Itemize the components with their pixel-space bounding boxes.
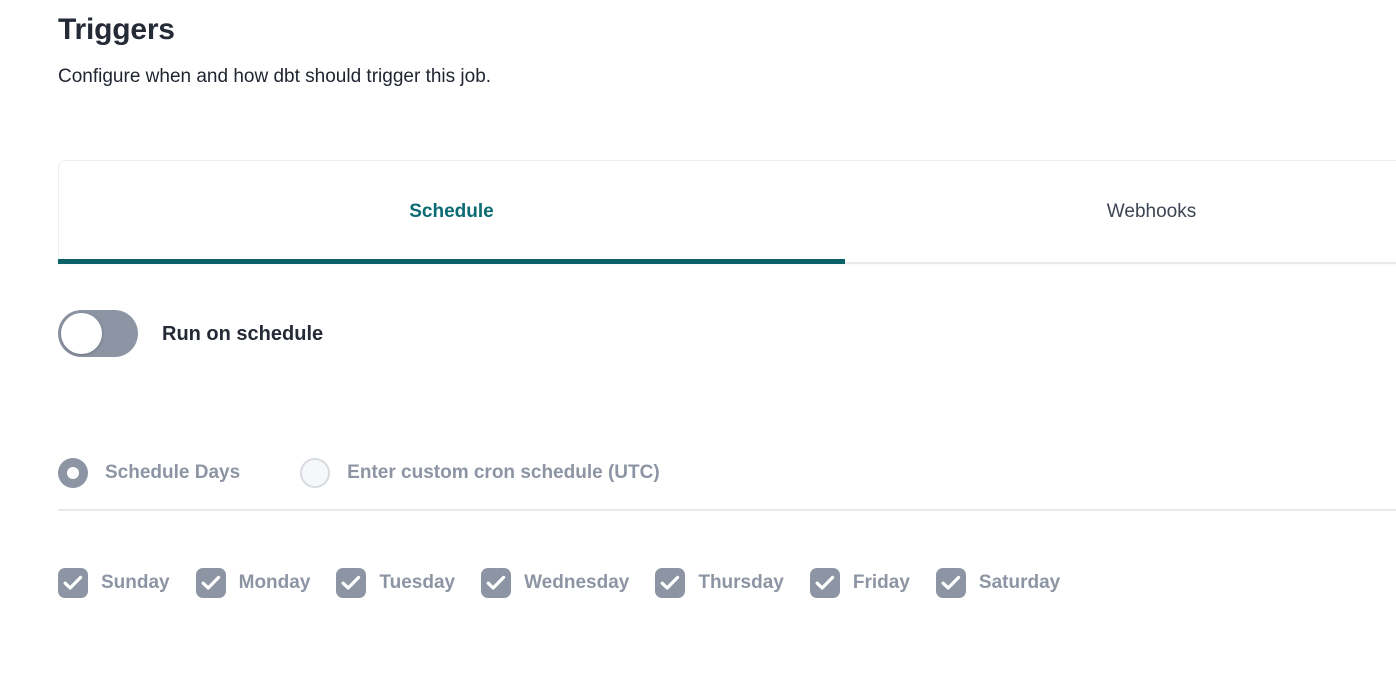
checkmark-icon: [655, 568, 685, 598]
day-checkbox-wednesday[interactable]: Wednesday: [481, 568, 629, 598]
radio-option-custom-cron[interactable]: Enter custom cron schedule (UTC): [300, 458, 660, 488]
checkmark-icon: [336, 568, 366, 598]
tab-strip-rule: [845, 262, 1396, 264]
radio-unchecked-icon: [300, 458, 330, 488]
checkmark-icon: [196, 568, 226, 598]
tab-strip: Schedule Webhooks: [58, 160, 1396, 268]
tab-schedule-label: Schedule: [409, 200, 493, 224]
checkmark-icon: [810, 568, 840, 598]
tab-schedule[interactable]: Schedule: [58, 160, 845, 264]
run-on-schedule-row: Run on schedule: [58, 310, 323, 357]
radio-label-schedule-days: Schedule Days: [105, 461, 240, 485]
day-checkbox-monday[interactable]: Monday: [196, 568, 311, 598]
day-label-monday: Monday: [239, 571, 311, 595]
page-title: Triggers: [58, 10, 1358, 50]
checkmark-icon: [481, 568, 511, 598]
tab-webhooks-label: Webhooks: [1107, 200, 1196, 224]
page-subtitle: Configure when and how dbt should trigge…: [58, 50, 1358, 90]
checkmark-icon: [936, 568, 966, 598]
day-checkbox-sunday[interactable]: Sunday: [58, 568, 170, 598]
tab-webhooks[interactable]: Webhooks: [845, 160, 1396, 264]
run-on-schedule-toggle[interactable]: [58, 310, 138, 357]
day-label-thursday: Thursday: [698, 571, 784, 595]
checkmark-icon: [58, 568, 88, 598]
radio-label-custom-cron: Enter custom cron schedule (UTC): [347, 461, 660, 485]
day-checkbox-friday[interactable]: Friday: [810, 568, 910, 598]
active-tab-underline: [58, 259, 845, 264]
schedule-mode-radio-group: Schedule Days Enter custom cron schedule…: [58, 458, 660, 488]
day-checkbox-tuesday[interactable]: Tuesday: [336, 568, 455, 598]
day-label-sunday: Sunday: [101, 571, 170, 595]
day-label-friday: Friday: [853, 571, 910, 595]
triggers-page: Triggers Configure when and how dbt shou…: [0, 0, 1396, 680]
section-divider: [58, 509, 1396, 511]
day-label-tuesday: Tuesday: [379, 571, 455, 595]
page-header: Triggers Configure when and how dbt shou…: [58, 10, 1358, 90]
toggle-knob-icon: [61, 313, 102, 354]
radio-option-schedule-days[interactable]: Schedule Days: [58, 458, 240, 488]
day-label-wednesday: Wednesday: [524, 571, 629, 595]
radio-checked-icon: [58, 458, 88, 488]
schedule-days-row: Sunday Monday Tuesday: [58, 568, 1060, 598]
run-on-schedule-label: Run on schedule: [162, 322, 323, 346]
day-checkbox-thursday[interactable]: Thursday: [655, 568, 784, 598]
day-checkbox-saturday[interactable]: Saturday: [936, 568, 1060, 598]
day-label-saturday: Saturday: [979, 571, 1060, 595]
